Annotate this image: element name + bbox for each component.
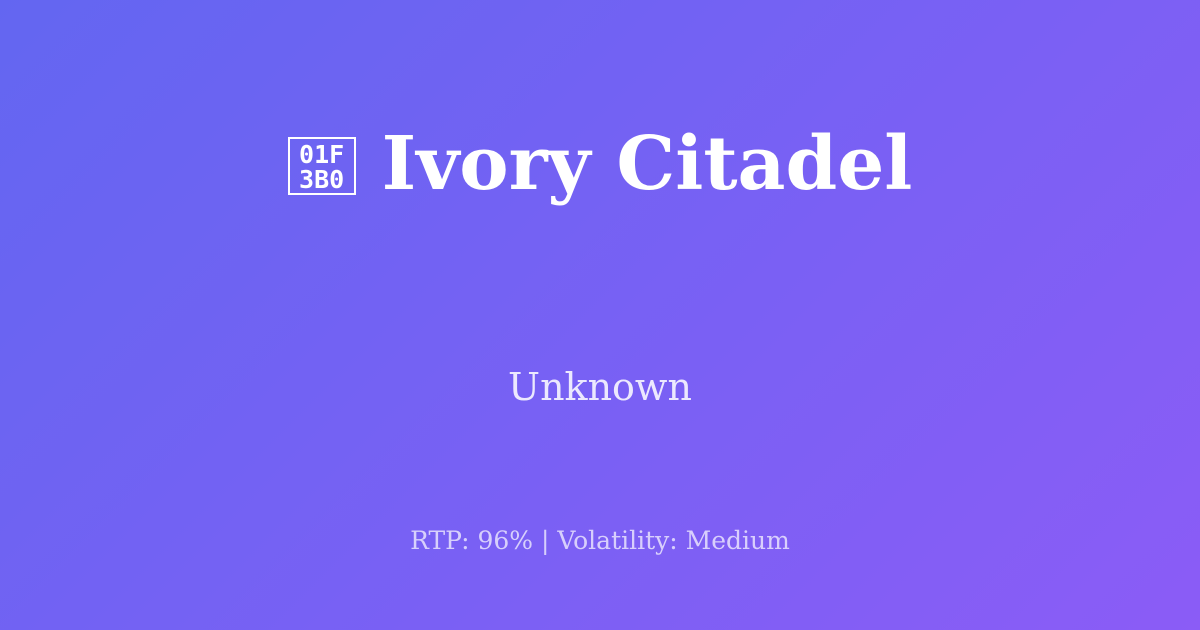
game-share-card: 01F 3B0 Ivory Citadel Unknown RTP: 96% |… [0, 0, 1200, 630]
game-stats-line: RTP: 96% | Volatility: Medium [0, 525, 1200, 557]
game-title: Ivory Citadel [382, 127, 913, 201]
slot-machine-emoji-missing-glyph-icon: 01F 3B0 [288, 137, 356, 195]
game-provider-subtitle: Unknown [0, 365, 1200, 409]
codepoint-lower-digits: 3B0 [299, 167, 344, 192]
codepoint-upper-digits: 01F [299, 142, 344, 167]
title-row: 01F 3B0 Ivory Citadel [0, 0, 1200, 328]
